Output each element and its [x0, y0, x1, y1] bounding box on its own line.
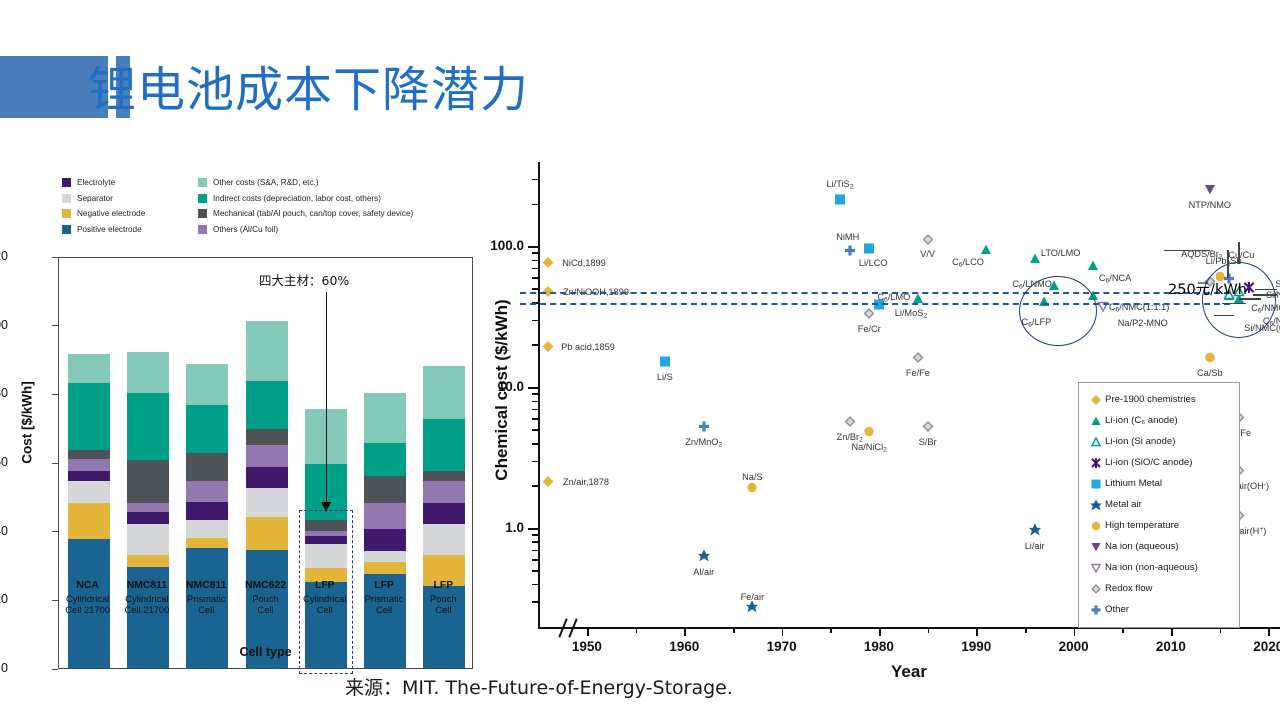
scatter-y-minor-tick: [532, 443, 540, 445]
scatter-y-minor-tick: [532, 344, 540, 346]
scatter-point-marker: [844, 243, 855, 261]
scatter-point-label: SiO-C/NMC(8:1:1): [1275, 279, 1280, 289]
bar-segment: [364, 443, 406, 476]
scatter-legend-label: Na ion (non-aqueous): [1105, 562, 1198, 573]
scatter-point-marker: [1028, 523, 1041, 541]
scatter-point-label: Na/S: [742, 472, 762, 482]
scatter-point-label: Li/TiS2: [827, 179, 854, 190]
scatter-y-minor-tick: [532, 288, 540, 290]
scatter-point-label: Li/MoS2: [895, 308, 927, 319]
scatter-point-marker: [864, 424, 875, 442]
bar-y-tick-label: 80: [0, 386, 8, 400]
bar-y-tick-label: 120: [0, 249, 8, 263]
legend-marker-icon: [1087, 563, 1105, 573]
bar-segment: [246, 467, 288, 488]
legend-swatch-icon: [62, 194, 71, 203]
scatter-point-label: Li/air: [1025, 541, 1045, 551]
scatter-y-minor-tick: [532, 534, 540, 536]
bar-segment: [246, 381, 288, 429]
legend-swatch-icon: [62, 178, 71, 187]
scatter-x-tick-label: 1970: [756, 639, 808, 654]
scatter-point-marker: [1204, 350, 1215, 368]
scatter-point-marker: [1097, 299, 1108, 317]
bar-y-axis-title: Cost [$/kWh]: [20, 258, 35, 588]
bar-segment: [127, 393, 169, 460]
scatter-legend-label: Lithium Metal: [1105, 478, 1162, 489]
bar-segment: [68, 383, 110, 450]
bar-segment: [423, 503, 465, 524]
scatter-y-tick-label: 10.0: [466, 379, 524, 394]
scatter-x-tick: [1074, 627, 1076, 636]
scatter-y-minor-tick: [532, 541, 540, 543]
scatter-point-marker: [864, 241, 875, 259]
scatter-legend-label: High temperature: [1105, 520, 1179, 531]
scatter-legend-label: Li-ion (Si anode): [1105, 436, 1175, 447]
scatter-x-tick: [879, 627, 881, 636]
scatter-x-tick: [684, 627, 686, 636]
scatter-x-tick-label: 2020: [1242, 639, 1280, 654]
bar-stack: [127, 352, 169, 668]
bar-segment: [127, 503, 169, 512]
scatter-point-marker: [844, 414, 855, 432]
leader-aqds: [1227, 250, 1228, 278]
scatter-legend-item: Li-ion (C₆ anode): [1087, 410, 1239, 431]
scatter-point-marker: [922, 232, 933, 250]
scatter-point-label: Fe/air: [741, 592, 765, 602]
scatter-point-marker: [697, 549, 710, 567]
scatter-y-minor-tick: [532, 485, 540, 487]
bar-segment: [186, 481, 228, 502]
scatter-y-minor-tick: [532, 559, 540, 561]
scatter-point-marker: [835, 192, 846, 210]
bar-legend-label: Indirect costs (depreciation, labor cost…: [213, 194, 381, 203]
bar-legend-item: Separator: [62, 191, 145, 207]
bar-legend-label: Positive electrode: [77, 225, 142, 234]
bar-stack: [364, 393, 406, 668]
scatter-point-marker: [747, 480, 758, 498]
price-annotation: 250元/kWh: [1168, 278, 1247, 299]
bar-segment: [68, 450, 110, 459]
source-note: 来源：MIT. The-Future-of-Energy-Storage.: [345, 673, 733, 700]
bar-segment: [186, 538, 228, 548]
scatter-legend-item: Other: [1087, 599, 1239, 620]
scatter-y-minor-tick: [532, 429, 540, 431]
scatter-legend-item: Na ion (non-aqueous): [1087, 557, 1239, 578]
leader-sio: [1255, 289, 1277, 290]
scatter-point-label: C6/LCO: [952, 257, 984, 268]
legend-marker-icon: [1087, 416, 1105, 426]
scatter-y-tick: [528, 528, 540, 530]
scatter-x-tick: [976, 627, 978, 636]
bar-segment: [127, 460, 169, 503]
reference-dashed-line: [520, 292, 1230, 294]
scatter-y-minor-tick: [532, 409, 540, 411]
bar-segment: [186, 502, 228, 521]
scatter-legend-label: Pre-1900 chemistries: [1105, 394, 1196, 405]
legend-swatch-icon: [198, 194, 207, 203]
bar-legend-label: Negative electrode: [77, 209, 145, 218]
bar-stack: [186, 364, 228, 668]
scatter-point-marker: [746, 600, 759, 618]
scatter-point-marker: [873, 297, 884, 315]
bar-stack: [68, 354, 110, 668]
bar-segment: [364, 551, 406, 561]
legend-swatch-icon: [62, 209, 71, 218]
bar-segment: [246, 517, 288, 550]
bar-segment: [246, 488, 288, 517]
bar-segment: [246, 445, 288, 467]
scatter-y-tick-label: 100.0: [466, 238, 524, 253]
bar-segment: [364, 503, 406, 529]
bar-segment: [68, 459, 110, 471]
scatter-point-marker: [1204, 182, 1215, 200]
scatter-legend-item: Pre-1900 chemistries: [1087, 389, 1239, 410]
scatter-y-minor-tick: [532, 268, 540, 270]
leader-si811: [1253, 294, 1277, 295]
scatter-legend-item: Li-ion (SiO/C anode): [1087, 452, 1239, 473]
scatter-chart-legend: Pre-1900 chemistriesLi-ion (C₆ anode)Li-…: [1078, 382, 1240, 628]
scatter-y-minor-tick: [532, 550, 540, 552]
bar-segment: [364, 393, 406, 443]
scatter-y-minor-tick: [532, 401, 540, 403]
bar-legend-item: Electrolyte: [62, 175, 145, 191]
legend-marker-icon: [1087, 479, 1105, 489]
scatter-point-marker: [864, 306, 875, 324]
bar-segment: [186, 520, 228, 537]
scatter-point-label: Zn/MnO2: [685, 437, 722, 448]
bar-segment: [364, 529, 406, 551]
bar-y-tick-label: 40: [0, 524, 8, 538]
bar-segment: [127, 555, 169, 567]
scatter-legend-item: Na ion (aqueous): [1087, 536, 1239, 557]
legend-marker-icon: [1087, 605, 1105, 615]
bar-legend-item: Others (Al/Cu foil): [198, 222, 413, 238]
bar-annotation-label: 四大主材：60%: [259, 270, 349, 289]
legend-marker-icon: [1087, 437, 1105, 447]
scatter-y-minor-tick: [532, 461, 540, 463]
legend-swatch-icon: [198, 225, 207, 234]
bar-legend-column-left: ElectrolyteSeparatorNegative electrodePo…: [62, 175, 145, 237]
legend-marker-icon: [1087, 584, 1105, 594]
scatter-point-label: Al/air: [693, 567, 714, 577]
bar-segment: [68, 354, 110, 383]
scatter-x-tick: [782, 627, 784, 636]
bar-legend-item: Positive electrode: [62, 222, 145, 238]
scatter-legend-label: Li-ion (SiO/C anode): [1105, 457, 1192, 468]
scatter-point-label: Zn/air,1878: [563, 477, 609, 487]
bar-legend-label: Other costs (S&A, R&D, etc.): [213, 178, 319, 187]
scatter-x-tick-label: 2000: [1048, 639, 1100, 654]
bar-x-axis-title: Cell type: [58, 645, 473, 659]
scatter-legend-item: Metal air: [1087, 494, 1239, 515]
bar-legend-item: Indirect costs (depreciation, labor cost…: [198, 191, 413, 207]
bar-segment: [423, 481, 465, 503]
leader-c6622: [1222, 303, 1246, 304]
scatter-point-label: V/V: [920, 249, 935, 259]
bar-legend-label: Electrolyte: [77, 178, 115, 187]
scatter-y-minor-tick: [532, 252, 540, 254]
bar-segment: [68, 503, 110, 539]
scatter-y-tick: [528, 387, 540, 389]
bar-segment: [186, 364, 228, 405]
scatter-x-tick-label: 1950: [561, 639, 613, 654]
bar-segment: [186, 453, 228, 480]
legend-marker-icon: [1087, 499, 1105, 511]
scatter-point-label: C6/NCA: [1099, 273, 1131, 284]
scatter-legend-label: Metal air: [1105, 499, 1142, 510]
scatter-point-label: Na/P2-MNO: [1118, 318, 1168, 328]
scatter-legend-item: Redox flow: [1087, 578, 1239, 599]
scatter-y-minor-tick: [532, 584, 540, 586]
scatter-legend-item: Lithium Metal: [1087, 473, 1239, 494]
scatter-point-label: Ca/Sb: [1197, 368, 1223, 378]
scatter-y-tick-label: 1.0: [466, 520, 524, 535]
scatter-point-label: Zn/Br2: [837, 432, 863, 443]
bar-legend-item: Other costs (S&A, R&D, etc.): [198, 175, 413, 191]
bar-segment: [127, 352, 169, 393]
page-title: 锂电池成本下降潜力: [88, 50, 529, 120]
bar-y-tick-label: 0: [0, 661, 8, 675]
scatter-y-minor-tick: [532, 260, 540, 262]
bar-y-tick-label: 100: [0, 318, 8, 332]
legend-swatch-icon: [198, 209, 207, 218]
scatter-x-minor-tick: [928, 627, 930, 633]
bar-segment: [127, 512, 169, 524]
scatter-y-minor-tick: [532, 320, 540, 322]
scatter-y-minor-tick: [532, 393, 540, 395]
scatter-point-label: LTO/LMO: [1041, 248, 1080, 258]
scatter-point-label: Li/LCO: [859, 258, 888, 268]
bar-segment: [423, 419, 465, 471]
bar-segment: [246, 321, 288, 381]
scatter-x-tick: [587, 627, 589, 636]
scatter-point-label: Li/S: [657, 372, 673, 382]
scatter-x-minor-tick: [1025, 627, 1027, 633]
bar-segment: [423, 471, 465, 481]
scatter-x-tick-label: 2010: [1145, 639, 1197, 654]
scatter-y-minor-tick: [532, 204, 540, 206]
scatter-legend-label: Other: [1105, 604, 1129, 615]
bar-annotation-arrow-line: [326, 292, 327, 502]
bar-chart-panel: ElectrolyteSeparatorNegative electrodePo…: [10, 165, 480, 665]
scatter-y-minor-tick: [532, 570, 540, 572]
scatter-y-tick: [528, 246, 540, 248]
scatter-point-marker: [912, 350, 923, 368]
legend-marker-icon: [1087, 458, 1105, 468]
scatter-y-minor-tick: [532, 418, 540, 420]
scatter-point-marker: [543, 255, 554, 273]
legend-marker-icon: [1087, 542, 1105, 552]
bar-y-tick-label: 60: [0, 455, 8, 469]
bar-segment: [246, 429, 288, 444]
bar-stack: [423, 366, 465, 668]
leader-aqds-h: [1164, 250, 1210, 251]
bar-segment: [364, 476, 406, 503]
scatter-point-marker: [543, 474, 554, 492]
bar-segment: [68, 471, 110, 481]
cluster-ellipse-nmc: [1202, 262, 1276, 338]
scatter-legend-label: Redox flow: [1105, 583, 1152, 594]
leader-cucu: [1238, 242, 1239, 264]
scatter-x-tick: [1171, 627, 1173, 636]
scatter-legend-label: Li-ion (C₆ anode): [1105, 415, 1178, 426]
scatter-legend-item: Li-ion (Si anode): [1087, 431, 1239, 452]
scatter-point-marker: [698, 419, 709, 437]
slide-root: 锂电池成本下降潜力 ElectrolyteSeparatorNegative e…: [0, 0, 1280, 720]
bar-segment: [364, 562, 406, 574]
legend-swatch-icon: [198, 178, 207, 187]
scatter-x-tick-label: 1980: [853, 639, 905, 654]
scatter-x-minor-tick: [733, 627, 735, 633]
bar-stack: [246, 321, 288, 668]
scatter-y-minor-tick: [532, 179, 540, 181]
scatter-point-label: Cu/Cu: [1228, 250, 1254, 260]
scatter-point-marker: [543, 339, 554, 357]
leader-si622: [1214, 315, 1234, 316]
reference-dashed-line: [520, 303, 1230, 305]
scatter-x-tick-label: 1990: [950, 639, 1002, 654]
bar-legend-label: Mechanical (tab/Al pouch, can/top cover,…: [213, 209, 413, 218]
scatter-x-tick: [1268, 627, 1270, 636]
scatter-y-minor-tick: [532, 277, 540, 279]
scatter-y-minor-tick: [532, 601, 540, 603]
bar-legend-label: Others (Al/Cu foil): [213, 225, 278, 234]
legend-marker-icon: [1087, 395, 1105, 405]
scatter-x-tick-label: 1960: [658, 639, 710, 654]
bar-legend-column-right: Other costs (S&A, R&D, etc.)Indirect cos…: [198, 175, 413, 237]
legend-marker-icon: [1087, 521, 1105, 531]
bar-segment: [423, 366, 465, 419]
bar-segment: [423, 524, 465, 555]
scatter-point-marker: [922, 419, 933, 437]
scatter-point-label: S/Br: [919, 437, 937, 447]
scatter-point-label: Pb acid,1859: [561, 342, 615, 352]
bar-annotation-arrow-head: [321, 502, 331, 512]
scatter-legend-item: High temperature: [1087, 515, 1239, 536]
bar-chart-legend: ElectrolyteSeparatorNegative electrodePo…: [62, 175, 482, 237]
bar-legend-item: Mechanical (tab/Al pouch, can/top cover,…: [198, 206, 413, 222]
bar-segment: [186, 405, 228, 453]
bar-legend-label: Separator: [77, 194, 113, 203]
scatter-point-marker: [1088, 258, 1099, 276]
bar-legend-item: Negative electrode: [62, 206, 145, 222]
scatter-point-label: NTP/NMO: [1189, 200, 1231, 210]
scatter-point-label: NiMH: [836, 232, 859, 242]
scatter-point-marker: [659, 354, 670, 372]
bar-segment: [127, 524, 169, 555]
scatter-legend-label: Na ion (aqueous): [1105, 541, 1179, 552]
scatter-x-minor-tick: [830, 627, 832, 633]
scatter-point-label: NiCd,1899: [562, 258, 605, 268]
scatter-point-label: Fe/Cr: [858, 324, 881, 334]
cluster-ellipse-lfp: [1019, 276, 1097, 346]
scatter-point-label: Fe/Fe: [906, 368, 930, 378]
bar-y-tick-label: 20: [0, 592, 8, 606]
scatter-x-minor-tick: [636, 627, 638, 633]
legend-swatch-icon: [62, 225, 71, 234]
scatter-point-marker: [1029, 251, 1040, 269]
bar-segment: [68, 481, 110, 503]
